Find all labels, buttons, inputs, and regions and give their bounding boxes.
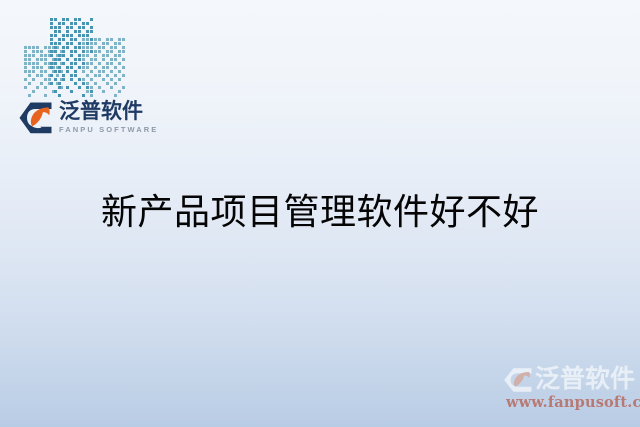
left-tower: [24, 18, 43, 98]
watermark-logo-row: 泛普软件: [503, 363, 640, 395]
page-title: 新产品项目管理软件好不好: [0, 190, 640, 236]
watermark: 泛普软件 www.fanpusoft.com: [503, 363, 640, 415]
slide-canvas: 泛普软件 FANPU SOFTWARE 新产品项目管理软件好不好 泛普软件 ww…: [0, 0, 640, 427]
brand-name-cn: 泛普软件: [59, 99, 139, 124]
watermark-url: www.fanpusoft.com: [506, 394, 640, 411]
pixel-city-skyline-icon: [24, 20, 114, 98]
center-tower: [50, 18, 76, 98]
brand-text-block: 泛普软件 FANPU SOFTWARE: [59, 99, 139, 135]
fanpu-hexagon-logo-icon: [18, 101, 54, 135]
fanpu-hexagon-logo-icon: [503, 367, 533, 393]
brand-logo: 泛普软件 FANPU SOFTWARE: [18, 99, 138, 139]
right-tower: [82, 18, 104, 98]
watermark-brand-name: 泛普软件: [535, 364, 635, 393]
brand-name-en: FANPU SOFTWARE: [59, 125, 139, 135]
